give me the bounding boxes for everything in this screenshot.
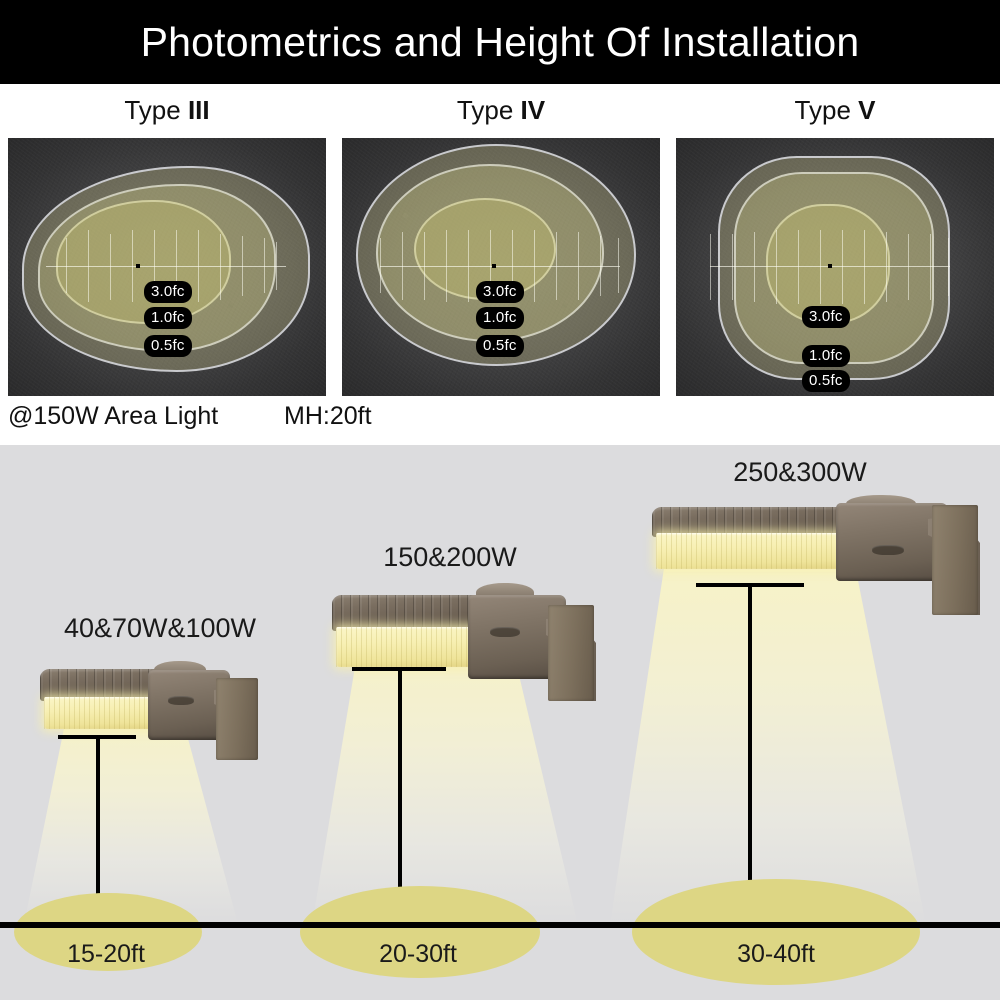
- driver-label-slot-large: [872, 545, 904, 555]
- driver-label-slot-small: [168, 696, 194, 705]
- pole-large: [748, 583, 752, 927]
- pole-arm-medium: [352, 667, 446, 671]
- pole-arm-small: [58, 735, 136, 739]
- type-heading-4-numeral: IV: [521, 95, 546, 125]
- type-heading-3: Type III: [8, 95, 326, 126]
- type-heading-4: Type IV: [342, 95, 660, 126]
- fc-label-3-0-type3: 3.0fc: [144, 281, 192, 303]
- led-lens-large: [656, 533, 856, 569]
- photometrics-caption-row: @150W Area Light MH:20ft: [0, 400, 1000, 445]
- fc-label-0-5-type3: 0.5fc: [144, 335, 192, 357]
- height-label-large: 30-40ft: [676, 940, 876, 969]
- title-bar: Photometrics and Height Of Installation: [0, 0, 1000, 84]
- wattage-label-large: 250&300W: [640, 457, 960, 488]
- fc-label-1-0-type5: 1.0fc: [802, 345, 850, 367]
- photometric-panel-type-3: 3.0fc 1.0fc 0.5fc: [8, 138, 326, 396]
- photometric-panel-type-4: 3.0fc 1.0fc 0.5fc: [342, 138, 660, 396]
- wattage-label-small: 40&70W&100W: [10, 613, 310, 644]
- type-heading-5: Type V: [676, 95, 994, 126]
- page-title: Photometrics and Height Of Installation: [141, 19, 860, 66]
- photometric-panel-type-5: 3.0fc 1.0fc 0.5fc: [676, 138, 994, 396]
- isoline-3-0fc-type3: [56, 200, 231, 324]
- led-array-large: [656, 533, 856, 569]
- wattage-label-medium: 150&200W: [300, 542, 600, 573]
- height-label-small: 15-20ft: [10, 940, 202, 969]
- driver-label-slot-medium: [490, 627, 520, 637]
- height-label-medium: 20-30ft: [318, 940, 518, 969]
- caption-wattage: @150W Area Light: [8, 402, 218, 431]
- fc-label-1-0-type4: 1.0fc: [476, 307, 524, 329]
- ground-line: [0, 922, 1000, 928]
- area-light-fixture-medium: [330, 573, 592, 715]
- type-heading-5-numeral: V: [858, 95, 875, 125]
- fc-label-0-5-type4: 0.5fc: [476, 335, 524, 357]
- wall-mount-plate-medium: [548, 605, 594, 701]
- fc-label-3-0-type4: 3.0fc: [476, 281, 524, 303]
- area-light-fixture-large: [650, 487, 970, 647]
- area-light-fixture-small: [38, 650, 260, 770]
- wall-mount-plate-small: [216, 678, 258, 760]
- wall-mount-plate-large: [932, 505, 978, 615]
- fc-label-1-0-type3: 1.0fc: [144, 307, 192, 329]
- fc-label-3-0-type5: 3.0fc: [802, 306, 850, 328]
- pole-arm-large: [696, 583, 804, 587]
- ground-pool-large: [632, 879, 920, 985]
- type-heading-3-numeral: III: [188, 95, 210, 125]
- type-heading-4-prefix: Type: [457, 95, 521, 125]
- photometrics-section: Type III Type IV Type V: [0, 84, 1000, 445]
- installation-section: 40&70W&100W 150&200W: [0, 445, 1000, 1000]
- type-heading-3-prefix: Type: [124, 95, 188, 125]
- type-heading-5-prefix: Type: [795, 95, 859, 125]
- caption-mounting-height: MH:20ft: [284, 402, 372, 431]
- fc-label-0-5-type5: 0.5fc: [802, 370, 850, 392]
